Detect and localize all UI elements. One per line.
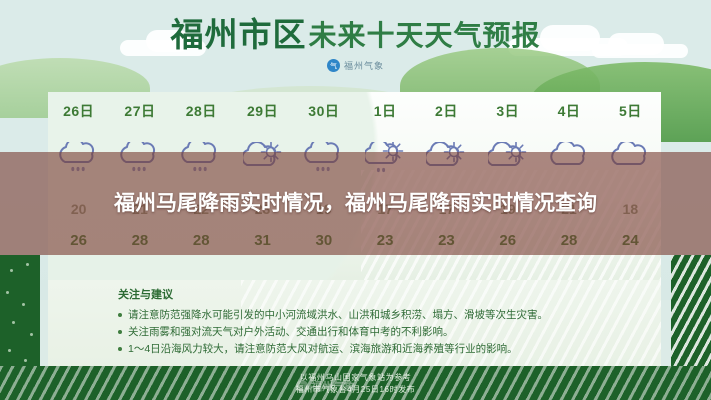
advisory-item: 关注雨雾和强对流天气对户外活动、交通出行和体育中考的不利影响。 (118, 324, 639, 341)
bullet-icon (118, 347, 122, 351)
watermark-logo-icon: 气 (296, 380, 308, 392)
forecast-date: 28日 (171, 92, 232, 130)
title-row: 福州市区 未来十天天气预报 (170, 18, 540, 51)
weather-logo-icon: 气 (327, 59, 340, 72)
advisory-content: 关注与建议 请注意防范强降水可能引发的中小河流域洪水、山洪和城乡积涝、塌方、滑坡… (48, 280, 661, 358)
advisory-item-text: 关注雨雾和强对流天气对户外活动、交通出行和体育中考的不利影响。 (128, 324, 454, 341)
right-side-panel (671, 255, 711, 368)
forecast-date-value: 5日 (619, 101, 642, 121)
right-panel-hatch (671, 255, 711, 368)
forecast-date: 27日 (109, 92, 170, 130)
watermark: 气 福州气象 (296, 378, 355, 394)
forecast-date: 3日 (477, 92, 538, 130)
advisory-panel: 关注与建议 请注意防范强降水可能引发的中小河流域洪水、山洪和城乡积涝、塌方、滑坡… (48, 280, 661, 368)
forecast-date-value: 27日 (124, 101, 155, 121)
page-subtitle: 未来十天天气预报 (308, 22, 540, 51)
advisory-item-text: 1～4日沿海风力较大，请注意防范大风对航运、滨海旅游和近海养殖等行业的影响。 (128, 341, 518, 358)
advisory-heading: 关注与建议 (118, 286, 639, 302)
overlay-banner: 福州马尾降雨实时情况，福州马尾降雨实时情况查询 (0, 152, 711, 255)
weather-forecast-poster: 福州市区 未来十天天气预报 气 福州气象 26日27日28日29日30日1日2日… (0, 0, 711, 400)
advisory-list: 请注意防范强降水可能引发的中小河流域洪水、山洪和城乡积涝、塌方、滑坡等次生灾害。… (118, 307, 639, 358)
brand-label: 福州气象 (344, 59, 384, 72)
left-panel-dots (0, 255, 40, 368)
forecast-date: 1日 (354, 92, 415, 130)
forecast-date-value: 4日 (558, 101, 581, 121)
left-side-panel (0, 255, 40, 368)
brand-row: 气 福州气象 (0, 59, 711, 72)
advisory-item-text: 请注意防范强降水可能引发的中小河流域洪水、山洪和城乡积涝、塌方、滑坡等次生灾害。 (128, 307, 548, 324)
bullet-icon (118, 313, 122, 317)
forecast-date: 26日 (48, 92, 109, 130)
forecast-date: 29日 (232, 92, 293, 130)
poster-header: 福州市区 未来十天天气预报 气 福州气象 (0, 18, 711, 90)
page-title: 福州市区 (170, 18, 306, 51)
forecast-date-value: 2日 (435, 101, 458, 121)
forecast-date: 4日 (538, 92, 599, 130)
forecast-date-value: 28日 (186, 101, 217, 121)
poster-footer: 以福州乌山国家气象站为参考 福州市气象台4月25日16时发布 (0, 366, 711, 400)
forecast-date-value: 26日 (63, 101, 94, 121)
forecast-date-value: 30日 (308, 101, 339, 121)
advisory-item: 1～4日沿海风力较大，请注意防范大风对航运、滨海旅游和近海养殖等行业的影响。 (118, 341, 639, 358)
forecast-date: 5日 (600, 92, 661, 130)
forecast-date: 2日 (416, 92, 477, 130)
watermark-label: 福州气象 (311, 378, 355, 394)
forecast-date: 30日 (293, 92, 354, 130)
bullet-icon (118, 330, 122, 334)
forecast-date-value: 1日 (374, 101, 397, 121)
forecast-date-value: 29日 (247, 101, 278, 121)
forecast-date-value: 3日 (496, 101, 519, 121)
overlay-title: 福州马尾降雨实时情况，福州马尾降雨实时情况查询 (46, 190, 666, 218)
advisory-item: 请注意防范强降水可能引发的中小河流域洪水、山洪和城乡积涝、塌方、滑坡等次生灾害。 (118, 307, 639, 324)
